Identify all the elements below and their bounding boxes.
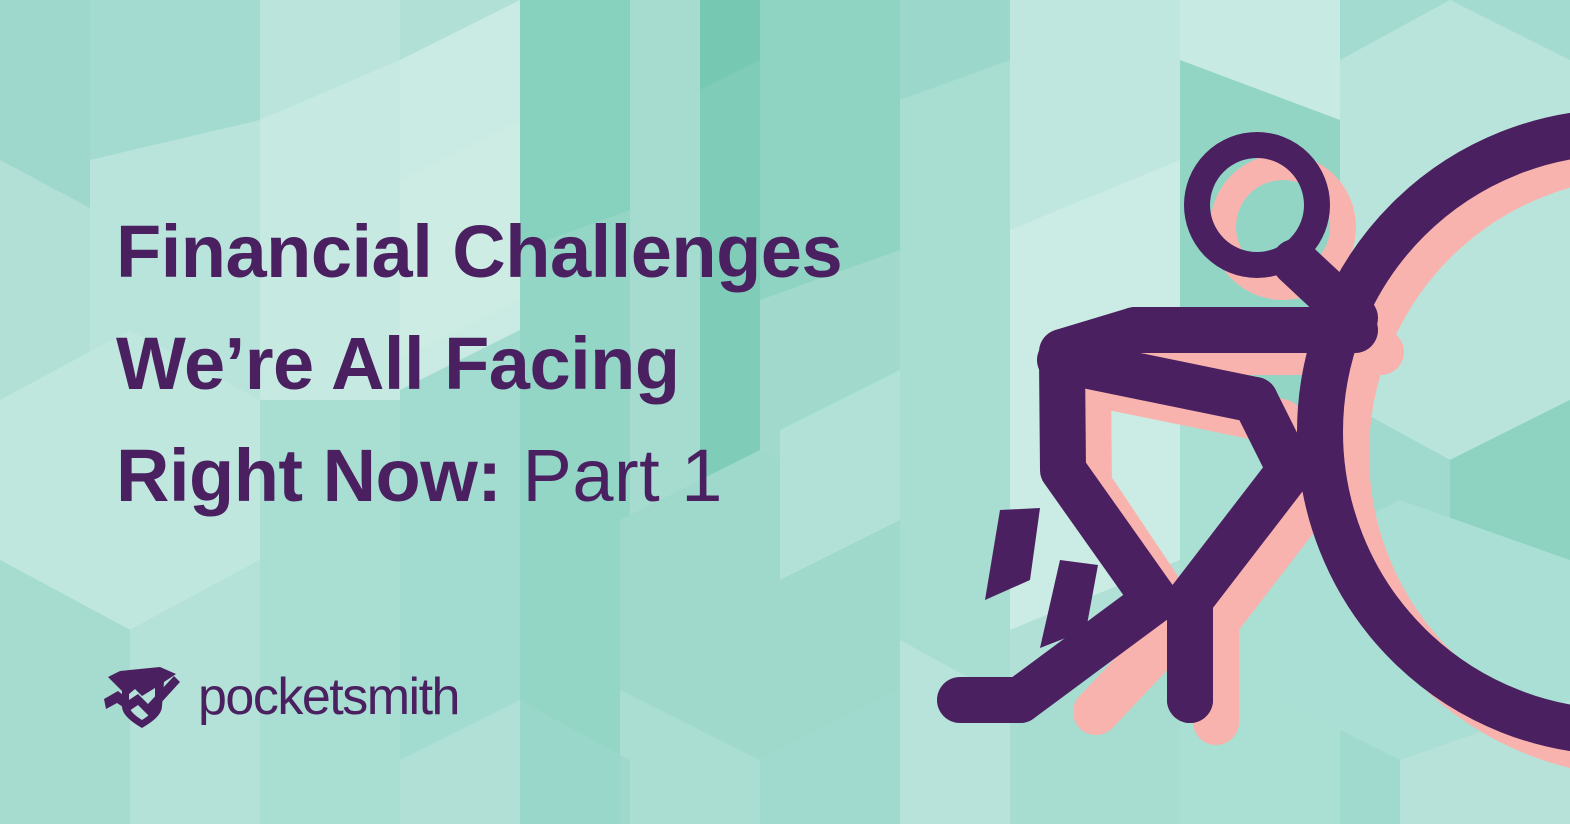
headline-line-2: We’re All Facing (116, 308, 1016, 420)
headline-line-1: Financial Challenges (116, 196, 1016, 308)
headline-part-label: Part 1 (523, 434, 723, 517)
headline-line-3-bold: Right Now: (116, 434, 501, 517)
headline: Financial Challenges We’re All Facing Ri… (116, 196, 1016, 532)
pocketsmith-logo[interactable]: pocketsmith (104, 664, 470, 730)
blog-banner: Financial Challenges We’re All Facing Ri… (0, 0, 1570, 824)
pocketsmith-wordmark: pocketsmith (198, 668, 459, 726)
headline-line-3: Right Now: Part 1 (116, 420, 1016, 532)
pocketsmith-shield-chart-icon (104, 667, 180, 728)
headline-line-3-light (501, 434, 522, 517)
